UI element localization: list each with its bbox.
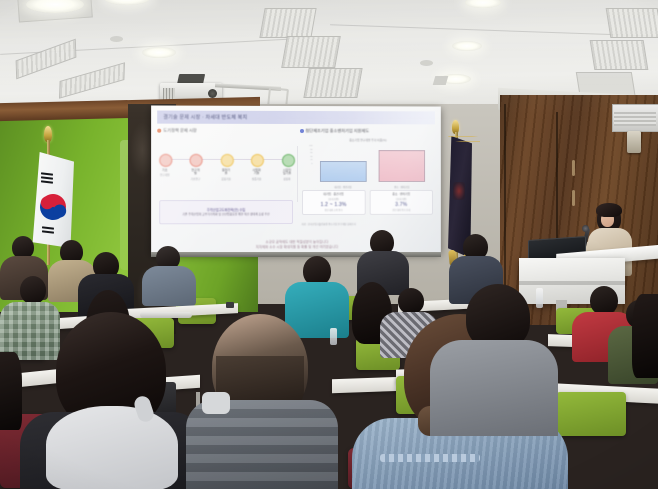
right-panel-heading: 첨단제조기업 중소벤처기업 지원제도	[299, 128, 434, 134]
water-bottle	[330, 328, 337, 345]
chart-bar-pink	[378, 150, 424, 182]
attendee-head	[20, 276, 46, 304]
step-item: 시장진입기술 상용화	[282, 154, 293, 181]
denim-seam	[380, 454, 480, 462]
taeguk-symbol-icon	[37, 191, 69, 223]
chart-y-axis: 100 80 60 40 20 0	[302, 145, 312, 182]
chart-plot-area	[313, 145, 431, 182]
step-sublabel: 상용화	[282, 177, 293, 180]
water-bottle	[536, 288, 543, 308]
step-item: 원천기술 응용기술	[221, 154, 232, 181]
smoke-detector-icon	[420, 60, 433, 66]
left-panel-note: 주력산업고도화전략(안) 수립 기존 주력산업의 고부가가치화 및 신산업창출을…	[159, 200, 292, 224]
desk	[332, 377, 404, 394]
podium-trim	[519, 281, 625, 285]
flag-emblem-icon	[453, 182, 465, 200]
step-circle-icon	[251, 154, 264, 167]
ceiling-vent	[281, 36, 341, 68]
step-icon-row: 기초 연구개발 연구개발 기초연구 원천기술 응용기술	[159, 154, 292, 181]
step-item: 사업화기술 실증기술	[251, 154, 262, 181]
stat-card: 대기업 · 중견기업 (조사기준) 1.2 ~ 1.3% 전년 대비 소폭 증가	[301, 190, 365, 215]
step-circle-icon	[159, 154, 172, 167]
door-handle[interactable]	[572, 190, 575, 206]
attendee-head	[590, 286, 618, 315]
chart-source: 자료 : 한국산업기술진흥원 중소기업 연구개발 실태조사	[301, 222, 355, 226]
chart-bar-blue	[320, 161, 367, 182]
stat-card: 중소 · 벤처기업 (조사기준) 3.7% 전년 대비 증가 추세	[369, 190, 433, 215]
ceiling-vent	[303, 68, 362, 98]
attendee-head	[398, 288, 424, 314]
left-panel-heading-text: 도기정책 문제 시장	[163, 128, 197, 134]
door-handle[interactable]	[572, 160, 575, 176]
step-item: 연구개발 기초연구	[190, 154, 201, 181]
chart-caption: 중소기업 연구개발 투자 비중(%)	[302, 138, 432, 142]
ceiling-vent	[590, 40, 649, 70]
projection-screen: 결기술 문제 시장 · 차세대 반도체 복지 도기정책 문제 시장 기초 연구개	[151, 105, 441, 254]
presenter-hair	[596, 203, 622, 217]
smoke-detector-icon	[110, 36, 123, 42]
attendee-torso	[142, 266, 196, 306]
step-label: 연구개발	[190, 168, 201, 176]
wall-speaker	[627, 131, 641, 153]
bar-chart: 중소기업 연구개발 투자 비중(%) 100 80 60 40 20 0	[302, 140, 432, 188]
step-label: 사업화기술	[251, 168, 262, 176]
y-tick: 0	[302, 163, 312, 165]
chair	[556, 392, 626, 436]
y-tick: 100	[302, 145, 312, 147]
trigram-bar	[41, 172, 53, 175]
step-item: 기초 연구개발	[159, 154, 170, 181]
ceiling-light	[142, 47, 176, 58]
seminar-room-photo: 결기술 문제 시장 · 차세대 반도체 복지 도기정책 문제 시장 기초 연구개	[0, 0, 658, 489]
note-body: 기존 주력산업의 고부가가치화 및 신산업창출을 위한 혁신 생태계 조성 추진	[182, 213, 269, 217]
slide-left-panel: 도기정책 문제 시장 기초 연구개발 연구개발 기초연구	[157, 128, 294, 229]
stat-foot: 전년 대비 증가 추세	[371, 207, 431, 211]
y-tick: 60	[302, 152, 312, 154]
attendee-hair	[632, 294, 658, 378]
hoodie-hood	[46, 406, 178, 489]
chair-rail	[140, 312, 192, 318]
step-label: 원천기술	[221, 168, 232, 176]
bullet-icon	[299, 129, 303, 133]
trigram-bar	[41, 176, 53, 179]
slide-footer: 소규모 공작에도 대한 적절성분이 높아집니다 지자체와 소수 시장 확대지원 …	[151, 239, 441, 250]
left-panel-heading: 도기정책 문제 시장	[157, 128, 294, 134]
footer-line: 지자체와 소수 시장 확대지원 등 확률 및 개선 여러분습니다	[151, 244, 441, 250]
slide-right-panel: 첨단제조기업 중소벤처기업 지원제도 중소기업 연구개발 투자 비중(%) 10…	[299, 128, 434, 228]
stat-row: 대기업 · 중견기업 (조사기준) 1.2 ~ 1.3% 전년 대비 소폭 증가…	[301, 190, 432, 215]
step-sublabel: 응용기술	[221, 177, 232, 180]
y-tick: 20	[302, 159, 312, 161]
step-label: 시장진입기술	[282, 168, 293, 176]
trigram-bar	[41, 180, 53, 183]
slide-title-text: 결기술 문제 시장 · 차세대 반도체 복지	[157, 114, 247, 121]
right-panel-heading-text: 첨단제조기업 중소벤처기업 지원제도	[305, 128, 369, 134]
attendee-hair	[0, 352, 22, 430]
step-sublabel: 연구개발	[159, 174, 170, 177]
phone-on-desk	[226, 302, 234, 308]
bar-label: 대기업 · 중견기업	[321, 185, 366, 189]
projector-lens-icon	[208, 89, 217, 98]
step-sublabel: 기초연구	[190, 177, 201, 180]
bar-label: 중소 · 벤처기업	[379, 185, 424, 189]
y-tick: 40	[302, 156, 312, 158]
stat-foot: 전년 대비 소폭 증가	[303, 208, 363, 212]
trigram-bar	[42, 230, 54, 233]
ceiling-nozzle	[433, 76, 449, 85]
step-circle-icon	[190, 154, 203, 167]
step-sublabel: 실증기술	[251, 177, 262, 180]
y-tick: 80	[302, 149, 312, 151]
trigram-bar	[42, 226, 54, 229]
ceiling-vent	[259, 8, 316, 38]
stat-sub: (조사기준)	[371, 197, 431, 201]
microphone-head-icon	[582, 225, 589, 232]
air-conditioner-grill-icon	[614, 112, 656, 126]
ceiling-vent	[606, 8, 658, 38]
slide-title-bar: 결기술 문제 시장 · 차세대 반도체 복지	[157, 111, 435, 125]
ceiling-light	[452, 41, 482, 51]
face-mask-strap	[202, 392, 230, 414]
attendee-torso	[430, 340, 558, 436]
bullet-icon	[157, 129, 161, 133]
presentation-slide: 결기술 문제 시장 · 차세대 반도체 복지 도기정책 문제 시장 기초 연구개	[151, 105, 441, 254]
step-circle-icon	[282, 154, 295, 167]
chart-x-labels: 대기업 · 중견기업 중소 · 벤처기업	[313, 185, 431, 189]
slide-content: 도기정책 문제 시장 기초 연구개발 연구개발 기초연구	[157, 128, 435, 229]
door-seam	[504, 104, 506, 314]
step-circle-icon	[221, 154, 234, 167]
step-label: 기초	[159, 168, 170, 172]
stat-sub: (조사기준)	[303, 197, 363, 201]
